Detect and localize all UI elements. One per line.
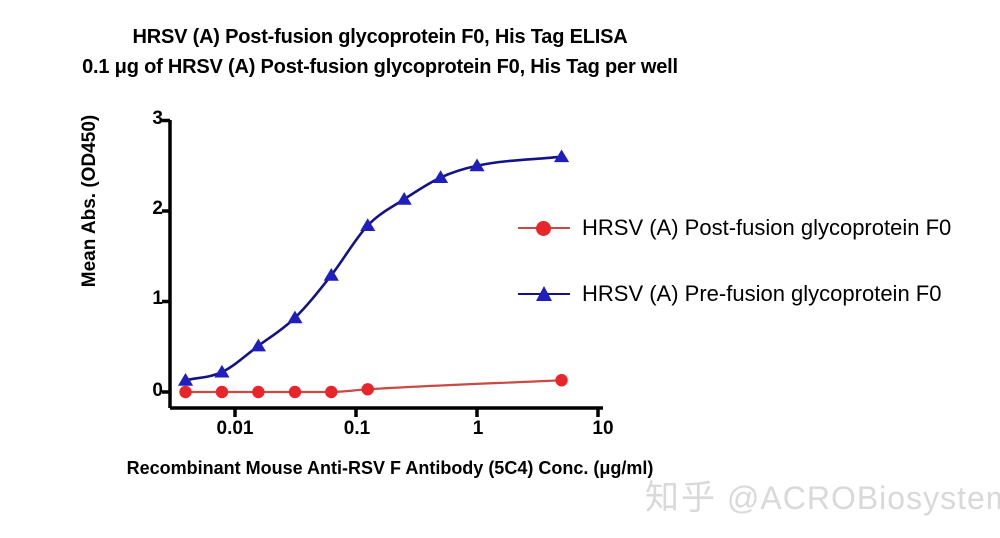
data-point-marker — [216, 386, 228, 398]
watermark: 知乎 @ACROBiosystems — [645, 470, 1000, 519]
series-pre-fusion — [178, 149, 569, 385]
watermark-handle: @ACROBiosystems — [727, 480, 1000, 516]
legend-label-pre-fusion: HRSV (A) Pre-fusion glycoprotein F0 — [582, 281, 941, 307]
legend-item-post-fusion[interactable]: HRSV (A) Post-fusion glycoprotein F0 — [518, 195, 998, 261]
watermark-cjk: 知乎 — [645, 479, 717, 517]
data-point-marker — [554, 149, 569, 162]
legend-label-post-fusion: HRSV (A) Post-fusion glycoprotein F0 — [582, 215, 951, 241]
data-point-marker — [362, 383, 374, 395]
legend-marker-circle-icon — [518, 217, 570, 239]
data-point-marker — [433, 170, 448, 183]
legend-item-pre-fusion[interactable]: HRSV (A) Pre-fusion glycoprotein F0 — [518, 261, 998, 327]
chart-page: HRSV (A) Post-fusion glycoprotein F0, Hi… — [0, 0, 1000, 538]
data-point-marker — [325, 386, 337, 398]
data-point-marker — [179, 386, 191, 398]
data-point-marker — [555, 374, 567, 386]
data-point-marker — [289, 386, 301, 398]
data-point-marker — [252, 386, 264, 398]
plot-area: Mean Abs. (OD450) Recombinant Mouse Anti… — [0, 0, 1000, 538]
legend-marker-triangle-icon — [518, 283, 570, 305]
series-post-fusion — [179, 374, 567, 398]
chart-legend: HRSV (A) Post-fusion glycoprotein F0 HRS… — [518, 195, 998, 327]
data-point-marker — [214, 365, 229, 378]
data-point-marker — [397, 192, 412, 205]
data-series-layer — [178, 149, 569, 398]
